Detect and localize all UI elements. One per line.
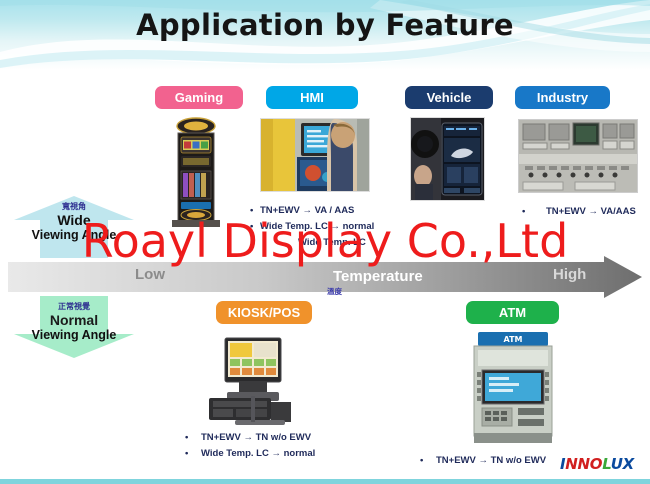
temperature-low-label: Low xyxy=(135,266,165,283)
bullet-hmi-2: Wide Temp. LC xyxy=(250,237,374,248)
innolux-logo: INNOLUX xyxy=(560,455,634,473)
normal-viewing-angle-arrow: 正常視覺 Normal Viewing Angle xyxy=(8,296,140,358)
wide-viewing-angle-line2: Viewing Angle xyxy=(8,228,140,243)
wide-viewing-angle-arrow: 寬視角 Wide Viewing Angle xyxy=(8,196,140,258)
bullet-atm-0: •TN+EWV → TN w/o EWV xyxy=(420,455,546,466)
logo-part-2: NNO xyxy=(565,455,602,473)
vehicle-dashboard-photo xyxy=(410,117,485,201)
bullet-dot: • xyxy=(185,448,201,459)
page-title: Application by Feature xyxy=(0,8,650,42)
bullet-kiosk-0: •TN+EWV → TN w/o EWV xyxy=(185,432,315,443)
pos-terminal-photo xyxy=(205,336,315,430)
bullets-hmi: •TN+EWV → VA / AAS •Wide Temp. LC → norm… xyxy=(250,205,374,253)
bullet-hmi-1: •Wide Temp. LC → normal xyxy=(250,221,374,232)
bullet-hmi-0: •TN+EWV → VA / AAS xyxy=(250,205,374,216)
logo-part-3: L xyxy=(602,455,610,473)
category-pill-vehicle[interactable]: Vehicle xyxy=(405,86,493,109)
bottom-accent-bar xyxy=(0,479,650,484)
industry-control-room-photo xyxy=(518,119,638,193)
category-pill-atm[interactable]: ATM xyxy=(466,301,559,324)
wide-viewing-angle-label-cn: 寬視角 xyxy=(8,196,140,212)
bullets-kiosk-pos: •TN+EWV → TN w/o EWV •Wide Temp. LC → no… xyxy=(185,432,315,464)
header-banner: Application by Feature xyxy=(0,0,650,70)
bullet-dot: • xyxy=(185,432,201,443)
wide-viewing-angle-line1: Wide xyxy=(8,212,140,228)
bullets-industry: •TN+EWV → VA/AAS xyxy=(522,206,636,222)
slide-canvas: Application by Feature Gaming HMI Vehicl… xyxy=(0,0,650,484)
bullet-dot: • xyxy=(250,221,260,232)
bullets-atm: •TN+EWV → TN w/o EWV xyxy=(420,455,546,471)
normal-viewing-angle-line1: Normal xyxy=(8,312,140,328)
normal-viewing-angle-label-cn: 正常視覺 xyxy=(8,296,140,312)
hmi-kiosk-photo xyxy=(260,118,370,192)
bullet-dot: • xyxy=(522,206,532,217)
atm-machine-photo: ATM xyxy=(468,328,558,443)
temperature-axis-arrow xyxy=(8,256,642,298)
svg-text:ATM: ATM xyxy=(504,335,523,344)
temperature-axis-label-cn: 溫度 xyxy=(327,286,342,297)
category-pill-gaming[interactable]: Gaming xyxy=(155,86,243,109)
category-pill-hmi[interactable]: HMI xyxy=(266,86,358,109)
bullet-kiosk-1: •Wide Temp. LC → normal xyxy=(185,448,315,459)
logo-part-4: UX xyxy=(611,455,634,473)
bullet-dot: • xyxy=(250,205,260,216)
temperature-high-label: High xyxy=(553,266,586,283)
category-pill-industry[interactable]: Industry xyxy=(515,86,610,109)
bullet-industry-0: •TN+EWV → VA/AAS xyxy=(522,206,636,217)
normal-viewing-angle-line2: Viewing Angle xyxy=(8,328,140,343)
temperature-axis-label: Temperature xyxy=(333,268,423,285)
category-pill-kiosk-pos[interactable]: KIOSK/POS xyxy=(216,301,312,324)
slot-machine-photo xyxy=(170,117,222,227)
bullet-dot: • xyxy=(420,455,436,466)
